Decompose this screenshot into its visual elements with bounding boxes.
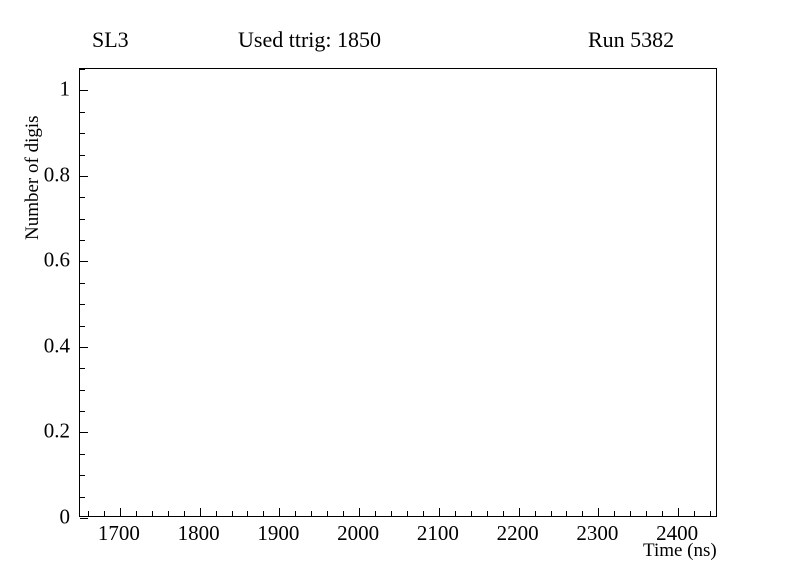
y-axis-title: Number of digis xyxy=(6,68,26,248)
y-axis-major-tick xyxy=(80,518,88,519)
x-axis-minor-tick xyxy=(710,511,711,516)
y-axis-major-tick xyxy=(80,432,88,433)
x-axis-minor-tick xyxy=(375,511,376,516)
x-axis-minor-tick xyxy=(263,511,264,516)
x-axis-major-tick xyxy=(120,508,121,516)
x-axis-major-tick xyxy=(200,508,201,516)
y-axis-major-tick xyxy=(80,176,88,177)
y-axis-minor-tick xyxy=(80,69,85,70)
y-axis-minor-tick xyxy=(80,326,85,327)
x-axis-minor-tick xyxy=(184,511,185,516)
x-axis-minor-tick xyxy=(535,511,536,516)
y-axis-minor-tick xyxy=(80,454,85,455)
plot-title-center: Used ttrig: 1850 xyxy=(238,27,381,53)
y-axis-minor-tick xyxy=(80,411,85,412)
x-axis-title: Time (ns) xyxy=(643,540,717,562)
x-axis-minor-tick xyxy=(662,511,663,516)
x-axis-minor-tick xyxy=(566,511,567,516)
y-axis-minor-tick xyxy=(80,133,85,134)
y-axis-minor-tick xyxy=(80,368,85,369)
x-axis-tick-label: 2300 xyxy=(576,521,618,546)
x-axis-minor-tick xyxy=(407,511,408,516)
x-axis-minor-tick xyxy=(311,511,312,516)
x-axis-minor-tick xyxy=(136,511,137,516)
x-axis-minor-tick xyxy=(232,511,233,516)
y-axis-minor-tick xyxy=(80,219,85,220)
y-axis-major-tick xyxy=(80,347,88,348)
y-axis-minor-tick xyxy=(80,112,85,113)
y-axis-minor-tick xyxy=(80,155,85,156)
x-axis-minor-tick xyxy=(551,511,552,516)
x-axis-minor-tick xyxy=(694,511,695,516)
x-axis-minor-tick xyxy=(614,511,615,516)
x-axis-major-tick xyxy=(598,508,599,516)
y-axis-minor-tick xyxy=(80,497,85,498)
y-axis-major-tick xyxy=(80,261,88,262)
x-axis-minor-tick xyxy=(327,511,328,516)
x-axis-tick-label: 1800 xyxy=(178,521,220,546)
y-axis-tick-label: 1 xyxy=(60,77,71,102)
x-axis-minor-tick xyxy=(247,511,248,516)
x-axis-major-tick xyxy=(678,508,679,516)
x-axis-minor-tick xyxy=(343,511,344,516)
y-axis-major-tick xyxy=(80,90,88,91)
y-axis-tick-label: 0.2 xyxy=(44,419,70,444)
x-axis-tick-label: 2000 xyxy=(337,521,379,546)
plot-title-left: SL3 xyxy=(92,27,129,53)
y-axis-tick-label: 0 xyxy=(60,505,71,530)
x-axis-minor-tick xyxy=(455,511,456,516)
y-axis-title-text: Number of digis xyxy=(22,115,44,240)
x-axis-minor-tick xyxy=(295,511,296,516)
x-axis-tick-label: 2100 xyxy=(417,521,459,546)
plot-frame xyxy=(79,68,717,517)
x-axis-major-tick xyxy=(519,508,520,516)
x-axis-minor-tick xyxy=(503,511,504,516)
plot-title-right: Run 5382 xyxy=(588,27,674,53)
y-axis-minor-tick xyxy=(80,475,85,476)
x-axis-minor-tick xyxy=(630,511,631,516)
x-axis-minor-tick xyxy=(104,511,105,516)
x-axis-minor-tick xyxy=(582,511,583,516)
y-axis-tick-label: 0.4 xyxy=(44,333,70,358)
x-axis-tick-label: 1900 xyxy=(257,521,299,546)
x-axis-tick-label: 1700 xyxy=(98,521,140,546)
y-axis-minor-tick xyxy=(80,304,85,305)
y-axis-minor-tick xyxy=(80,197,85,198)
x-axis-minor-tick xyxy=(88,511,89,516)
x-axis-minor-tick xyxy=(152,511,153,516)
y-axis-tick-label: 0.6 xyxy=(44,248,70,273)
x-axis-minor-tick xyxy=(423,511,424,516)
x-axis-major-tick xyxy=(359,508,360,516)
x-axis-minor-tick xyxy=(646,511,647,516)
root-canvas: SL3 Used ttrig: 1850 Run 5382 1700180019… xyxy=(0,0,796,572)
x-axis-major-tick xyxy=(439,508,440,516)
x-axis-tick-label: 2200 xyxy=(497,521,539,546)
y-axis-minor-tick xyxy=(80,240,85,241)
y-axis-minor-tick xyxy=(80,283,85,284)
x-axis-minor-tick xyxy=(391,511,392,516)
x-axis-minor-tick xyxy=(487,511,488,516)
x-axis-major-tick xyxy=(279,508,280,516)
x-axis-minor-tick xyxy=(471,511,472,516)
x-axis-minor-tick xyxy=(216,511,217,516)
x-axis-minor-tick xyxy=(168,511,169,516)
y-axis-tick-label: 0.8 xyxy=(44,162,70,187)
y-axis-minor-tick xyxy=(80,390,85,391)
